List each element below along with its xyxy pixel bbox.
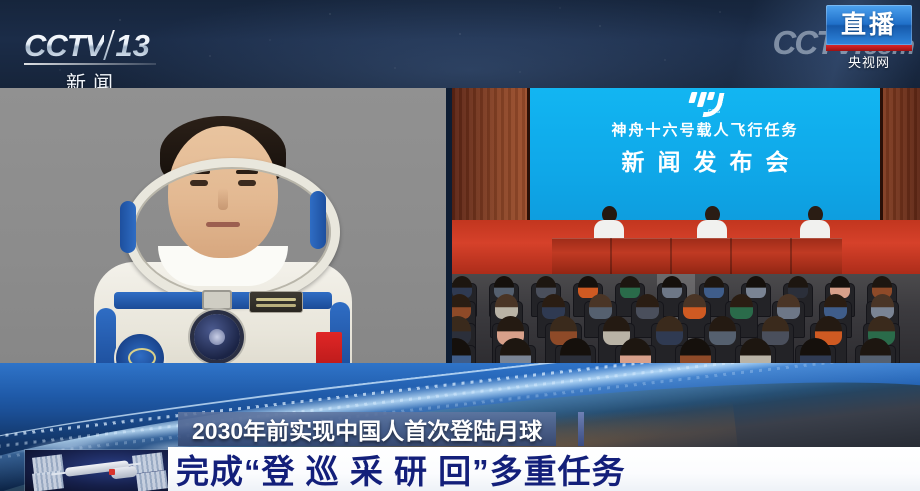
audience-member — [656, 316, 683, 345]
audience-member — [777, 294, 800, 319]
audience-member — [704, 276, 724, 298]
audience-member — [560, 338, 591, 363]
audience-seating — [452, 274, 920, 363]
live-badge: 直播 央视网 — [826, 5, 912, 71]
channel-logo-text: CCTV — [24, 30, 104, 61]
live-badge-box: 直播 — [826, 5, 912, 45]
audience-member — [762, 316, 789, 345]
audience-member — [495, 294, 518, 319]
astronaut-nametag — [250, 292, 302, 312]
cms-logo-bar-1 — [688, 92, 697, 103]
audience-member — [800, 338, 831, 363]
cms-logo-icon: CMS — [684, 90, 726, 116]
audience-member — [589, 294, 612, 319]
led-screen-line2: 新闻发布会 — [530, 143, 880, 177]
solar-panel — [136, 470, 168, 491]
spacesuit-shoulder-left — [96, 308, 116, 363]
channel-logo-underline — [24, 63, 156, 65]
channel-logo-slash-icon — [104, 30, 116, 60]
neck-ring-latch-right — [310, 191, 326, 249]
live-badge-red-strip — [826, 45, 912, 51]
channel-logo-row: CCTV 13 — [24, 28, 274, 62]
network-name: 央视网 — [826, 52, 912, 71]
subheadline-text: 2030年前实现中国人首次登陆月球 — [192, 412, 542, 446]
neck-ring-latch-left — [120, 201, 136, 253]
led-screen-line1: 神舟十六号载人飞行任务 — [530, 119, 880, 140]
audience-member — [620, 338, 651, 363]
audience-member — [680, 338, 711, 363]
audience-member — [620, 276, 640, 298]
broadcast-screen: CCTV 13 新闻 CCTV . com 直播 央视网 — [0, 0, 920, 491]
audience-member — [860, 338, 891, 363]
headline-text: 完成“登 巡 采 研 回”多重任务 — [168, 445, 626, 491]
audience-member — [740, 338, 771, 363]
video-panel-press-conference: CMS 神舟十六号载人飞行任务 新闻发布会 — [452, 88, 920, 363]
video-panel-astronaut: 航天员 景海鹏 — [0, 88, 446, 363]
chest-band-buckle — [202, 290, 232, 310]
space-station-inset — [25, 450, 170, 491]
audience-member — [730, 294, 753, 319]
audience-member — [662, 276, 682, 298]
subheadline-bar: 2030年前实现中国人首次登陆月球 — [178, 412, 556, 446]
audience-member — [709, 316, 736, 345]
audience-member — [636, 294, 659, 319]
cms-logo-caption: CMS — [708, 109, 721, 115]
live-badge-label: 直播 — [841, 13, 897, 38]
china-flag-patch — [316, 332, 342, 363]
spacesuit-chest-gauge — [194, 314, 240, 360]
station-flag-marking — [109, 469, 115, 475]
helmet-neck-ring — [124, 158, 340, 306]
astronaut-portrait — [98, 96, 348, 363]
audience-member — [683, 294, 706, 319]
headline-bar: 完成“登 巡 采 研 回”多重任务 — [168, 447, 920, 491]
channel-logo: CCTV 13 新闻 — [24, 28, 274, 86]
subheadline-accent-bar — [578, 412, 584, 446]
audience-member — [500, 338, 531, 363]
channel-number: 13 — [115, 30, 149, 61]
audience-member — [746, 276, 766, 298]
